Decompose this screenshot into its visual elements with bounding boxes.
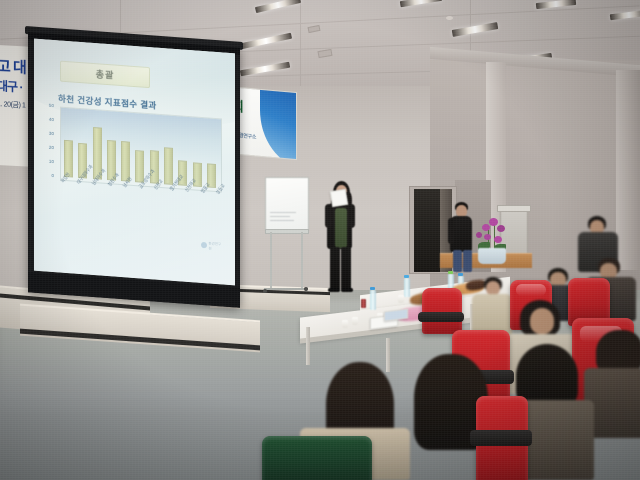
auditorium-seat[interactable] — [262, 436, 372, 480]
slide-tab-label: 총괄 — [96, 67, 115, 81]
y-tick-label: 0 — [51, 174, 54, 179]
flipchart-whiteboard — [265, 177, 309, 231]
chart-bar — [164, 147, 173, 185]
table-leg — [386, 338, 390, 372]
screenshot-root: 고 대 대구 · 1. 20(금) 1 발표회 표회 대구대학교 환경연구소 총… — [0, 0, 640, 480]
paper-cup — [352, 317, 358, 325]
chart-x-label: 남서천 — [122, 180, 131, 189]
logo-mark-icon — [201, 242, 207, 248]
chart-x-label: 신천교 — [153, 182, 162, 191]
chart-bar — [150, 150, 159, 184]
whiteboard-caster — [304, 287, 308, 291]
projection-screen: 총괄 하천 건강성 지표점수 결과 50 40 30 20 10 0 하양천대구… — [28, 32, 240, 308]
y-tick-label: 10 — [49, 160, 54, 165]
bottle-cap — [370, 287, 375, 290]
seat-armrest — [470, 430, 532, 446]
water-bottle — [404, 278, 410, 297]
wall-column — [616, 70, 640, 270]
paper-cup — [342, 320, 348, 328]
chart-x-label: 상동교 — [215, 187, 224, 196]
y-tick-label: 40 — [49, 118, 54, 123]
chart-y-axis: 50 40 30 20 10 0 — [40, 103, 54, 182]
seat-armrest — [418, 312, 464, 322]
whiteboard-caster — [263, 289, 267, 293]
drink-can — [361, 299, 366, 308]
whiteboard-leg — [270, 232, 272, 290]
open-doorway[interactable] — [414, 189, 440, 272]
screen-surface: 총괄 하천 건강성 지표점수 결과 50 40 30 20 10 0 하양천대구… — [34, 39, 235, 286]
auditorium-seat[interactable] — [422, 288, 462, 334]
table-leg — [306, 327, 310, 365]
banner-wave-graphic — [260, 84, 297, 160]
banner-left-line1: 고 대 — [0, 55, 26, 78]
bottle-cap — [404, 275, 409, 278]
flower-pot — [478, 248, 506, 264]
y-tick-label: 50 — [49, 104, 54, 109]
banner-left-line3: 1. 20(금) 1 — [0, 99, 26, 110]
paper-handout — [330, 189, 348, 207]
whiteboard-base — [264, 288, 308, 290]
paper-cup — [398, 295, 404, 303]
chart-x-label: 하양천 — [60, 175, 69, 184]
whiteboard-leg — [301, 232, 303, 288]
water-bottle — [370, 290, 376, 310]
chart-x-label: 남대하수과 — [91, 177, 100, 186]
projected-slide: 총괄 하천 건강성 지표점수 결과 50 40 30 20 10 0 하양천대구… — [34, 39, 235, 286]
slide-footer-logo: 환경연구원 — [201, 241, 223, 251]
y-tick-label: 30 — [49, 132, 54, 137]
lectern-top — [497, 205, 531, 212]
bottle-cap — [448, 271, 453, 274]
seat-highlight — [516, 284, 546, 296]
banner-left-line2: 대구 · — [0, 77, 22, 95]
chart-x-label: 신천하교 — [184, 184, 193, 193]
logo-text: 환경연구원 — [209, 240, 223, 251]
bottle-cap — [458, 273, 463, 276]
y-tick-label: 20 — [49, 146, 54, 151]
smoke-detector — [446, 16, 453, 20]
